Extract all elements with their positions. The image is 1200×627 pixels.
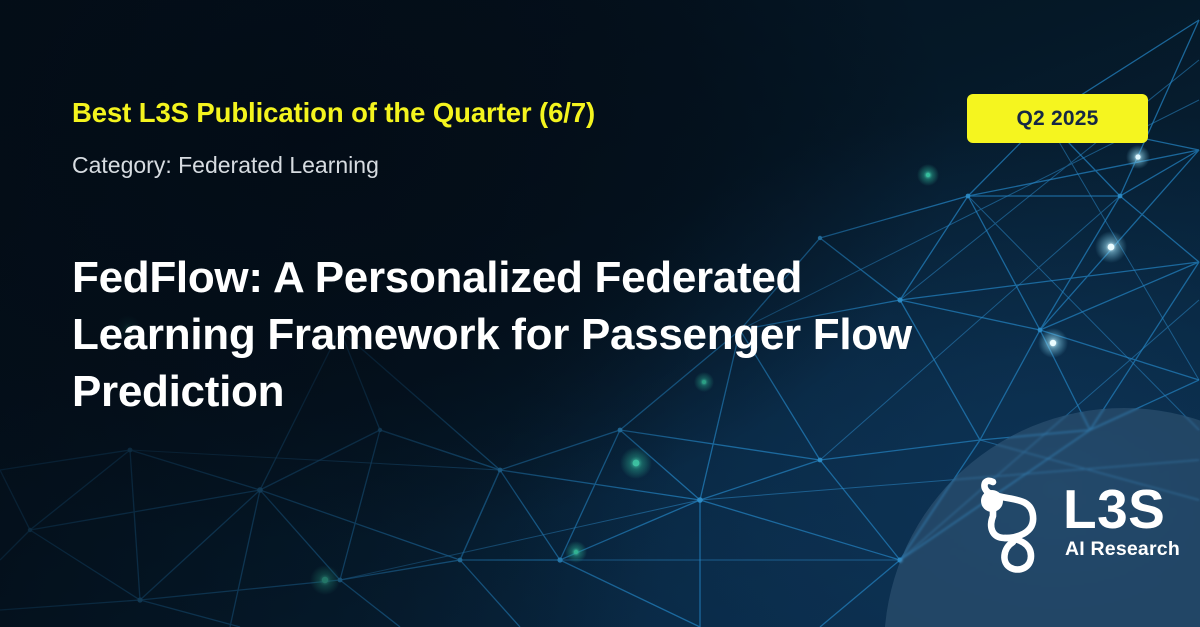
text-content: Best L3S Publication of the Quarter (6/7… [72,0,1022,627]
award-kicker: Best L3S Publication of the Quarter (6/7… [72,97,595,129]
publication-title: FedFlow: A Personalized Federated Learni… [72,249,972,420]
l3s-wordmark: L3S [1063,483,1165,536]
category-label: Category: Federated Learning [72,152,379,179]
l3s-logo: L3S AI Research [975,468,1180,576]
l3s-tagline: AI Research [1065,538,1180,561]
quarter-badge-label: Q2 2025 [1017,107,1099,131]
social-card: Best L3S Publication of the Quarter (6/7… [0,0,1200,627]
l3s-logo-mark-icon [975,468,1049,576]
quarter-badge: Q2 2025 [967,94,1148,143]
l3s-logo-text: L3S AI Research [1063,483,1180,562]
